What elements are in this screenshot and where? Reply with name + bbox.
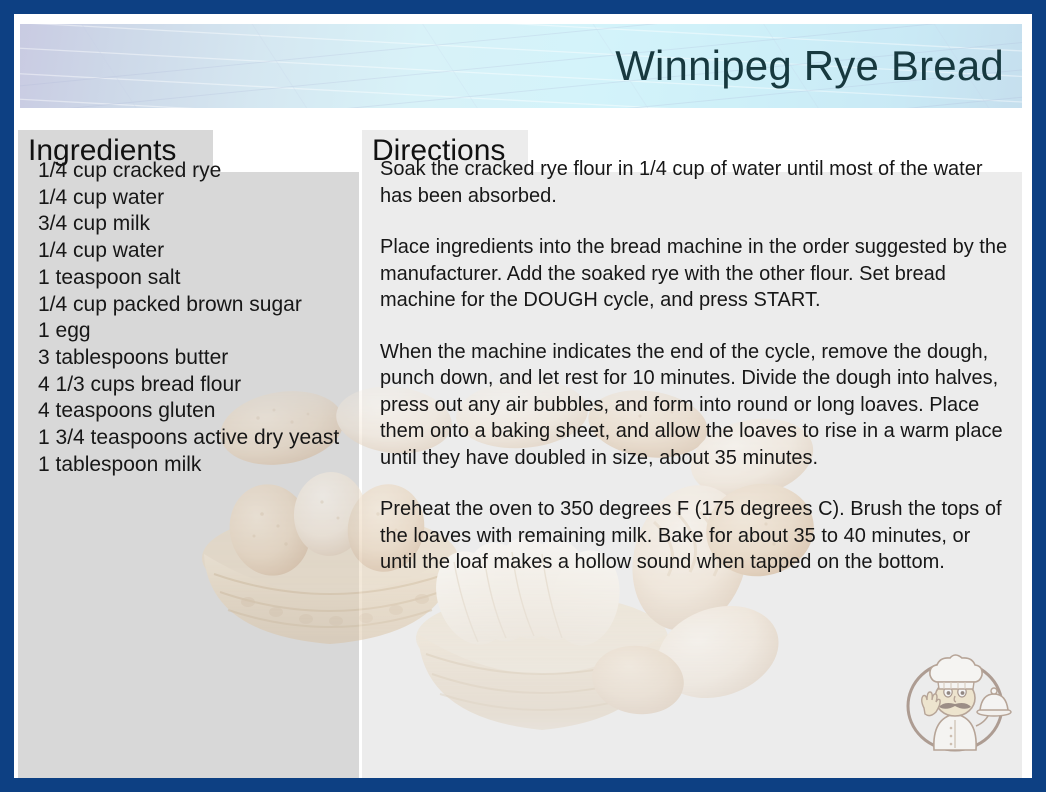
list-item: 1/4 cup cracked rye xyxy=(38,158,353,185)
list-item: 1 3/4 teaspoons active dry yeast xyxy=(38,425,353,452)
list-item: 1 egg xyxy=(38,318,353,345)
slide-content-area: Winnipeg Rye Bread Ingredients 1/4 cup c… xyxy=(14,14,1032,778)
list-item: 1 teaspoon salt xyxy=(38,265,353,292)
list-item: 3 tablespoons butter xyxy=(38,345,353,372)
chef-mascot-logo xyxy=(894,644,1016,760)
title-banner: Winnipeg Rye Bread xyxy=(20,24,1022,108)
recipe-slide: Winnipeg Rye Bread Ingredients 1/4 cup c… xyxy=(0,0,1046,792)
list-item: 4 teaspoons gluten xyxy=(38,398,353,425)
ingredients-list: 1/4 cup cracked rye 1/4 cup water 3/4 cu… xyxy=(38,158,353,478)
direction-paragraph: Place ingredients into the bread machine… xyxy=(380,234,1008,314)
list-item: 1/4 cup water xyxy=(38,185,353,212)
direction-paragraph: When the machine indicates the end of th… xyxy=(380,339,1008,472)
list-item: 1 tablespoon milk xyxy=(38,452,353,479)
direction-paragraph: Soak the cracked rye flour in 1/4 cup of… xyxy=(380,156,1008,209)
list-item: 1/4 cup packed brown sugar xyxy=(38,292,353,319)
list-item: 1/4 cup water xyxy=(38,238,353,265)
direction-paragraph: Preheat the oven to 350 degrees F (175 d… xyxy=(380,496,1008,576)
ingredients-section: Ingredients 1/4 cup cracked rye 1/4 cup … xyxy=(18,130,359,778)
directions-text: Soak the cracked rye flour in 1/4 cup of… xyxy=(380,156,1008,576)
list-item: 4 1/3 cups bread flour xyxy=(38,372,353,399)
page-title: Winnipeg Rye Bread xyxy=(615,42,1004,90)
list-item: 3/4 cup milk xyxy=(38,211,353,238)
